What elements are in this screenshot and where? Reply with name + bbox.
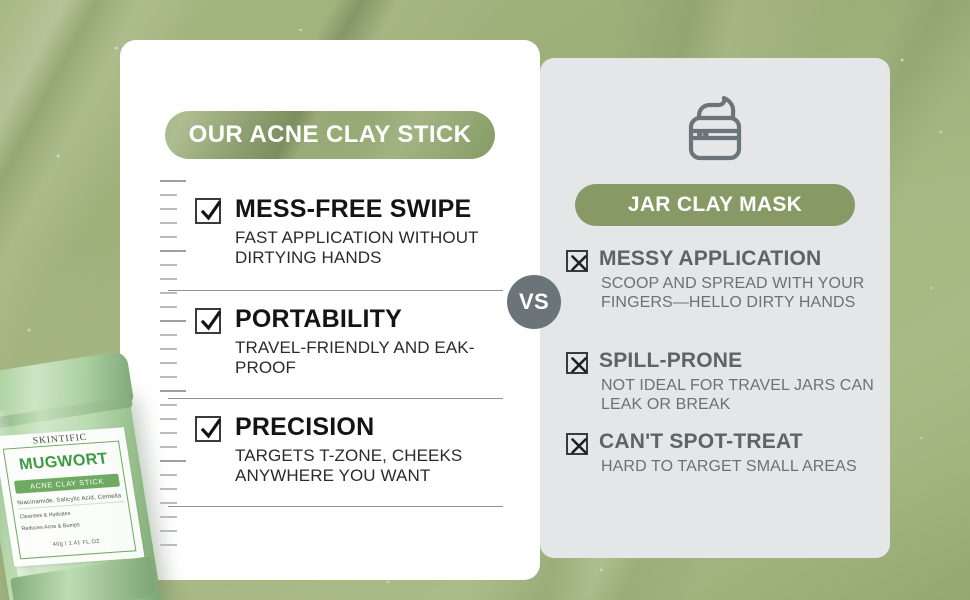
feature-item-mess-free-swipe: MESS-FREE SWIPE FAST APPLICATION WITHOUT… [195,196,525,268]
con-item-cant-spot-treat: CAN'T SPOT-TREAT HARD TO TARGET SMALL AR… [566,430,888,477]
con-title: SPILL-PRONE [599,349,742,372]
feature-separator [168,506,503,507]
feature-title: PRECISION [235,414,374,440]
ruler-decoration [160,180,186,560]
checkbox-x-icon [566,352,588,374]
jar-column: JAR CLAY MASK MESSY APPLICATION SCOOP AN… [540,58,890,558]
checkbox-checked-icon [195,308,221,334]
feature-item-portability: PORTABILITY TRAVEL-FRIENDLY AND EAK-PROO… [195,306,525,378]
stick-header-pill: OUR ACNE CLAY STICK [165,111,495,159]
con-title: MESSY APPLICATION [599,247,821,270]
con-description: HARD TO TARGET SMALL AREAS [601,458,888,477]
con-item-messy-application: MESSY APPLICATION SCOOP AND SPREAD WITH … [566,247,888,312]
checkbox-x-icon [566,250,588,272]
clay-jar-icon [682,94,748,167]
feature-description: TARGETS T-ZONE, CHEEKS ANYWHERE YOU WANT [235,446,525,486]
feature-description: TRAVEL-FRIENDLY AND EAK-PROOF [235,338,525,378]
feature-separator [168,398,503,399]
stick-column: OUR ACNE CLAY STICK [120,40,540,580]
checkbox-x-icon [566,433,588,455]
checkbox-checked-icon [195,416,221,442]
feature-separator [168,290,503,291]
feature-item-precision: PRECISION TARGETS T-ZONE, CHEEKS ANYWHER… [195,414,525,486]
con-item-spill-prone: SPILL-PRONE NOT IDEAL FOR TRAVEL JARS CA… [566,349,888,414]
feature-description: FAST APPLICATION WITHOUT DIRTYING HANDS [235,228,525,268]
con-description: NOT IDEAL FOR TRAVEL JARS CAN LEAK OR BR… [601,377,888,414]
jar-header-pill: JAR CLAY MASK [575,184,855,226]
checkbox-checked-icon [195,198,221,224]
feature-title: PORTABILITY [235,306,402,332]
feature-title: MESS-FREE SWIPE [235,196,471,222]
con-description: SCOOP AND SPREAD WITH YOUR FINGERS—HELLO… [601,275,888,312]
con-title: CAN'T SPOT-TREAT [599,430,803,453]
vs-badge: VS [507,275,561,329]
